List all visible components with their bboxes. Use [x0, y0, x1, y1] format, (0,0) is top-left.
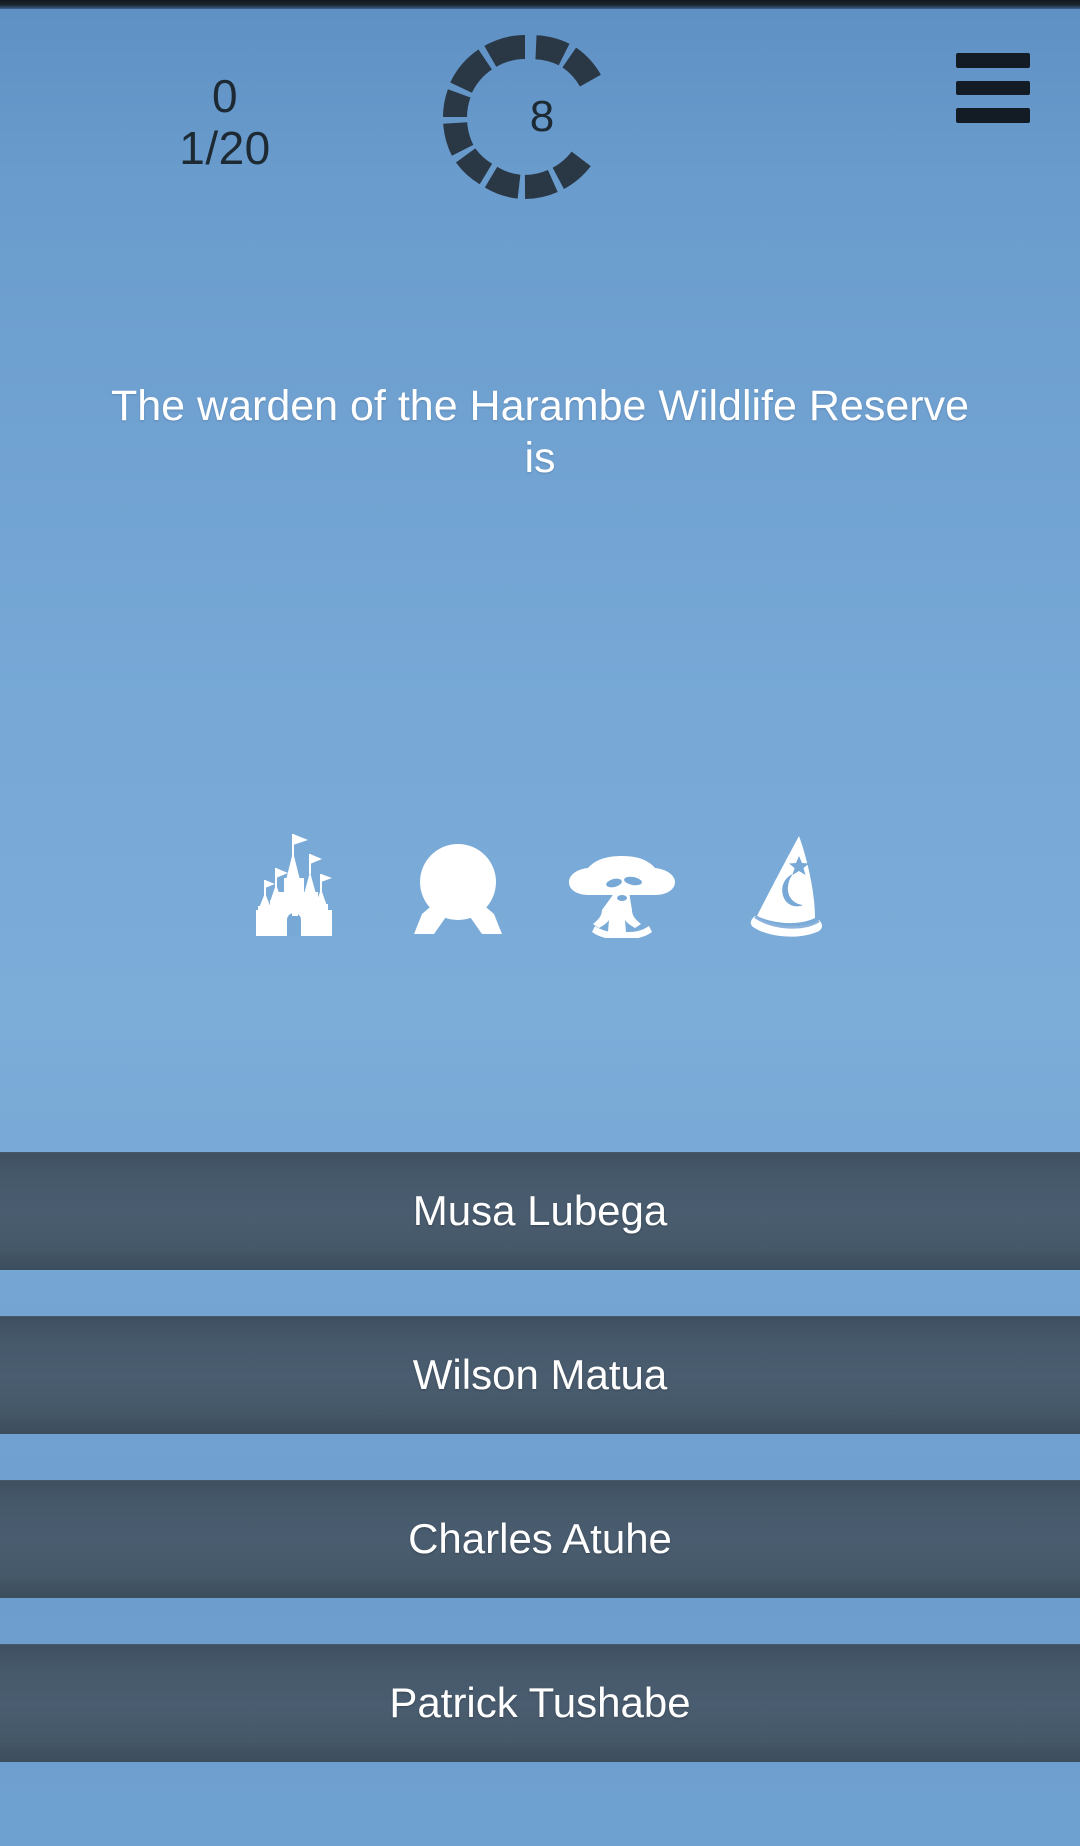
sorcerer-hat-icon — [743, 832, 829, 938]
menu-bar-1 — [956, 53, 1030, 68]
answer-option-1[interactable]: Musa Lubega — [0, 1152, 1080, 1270]
park-icon-magic-kingdom — [212, 818, 376, 938]
score-points: 0 — [110, 71, 340, 123]
park-icon-epcot — [376, 818, 540, 938]
answer-gap-3 — [0, 1598, 1080, 1644]
answer-option-4[interactable]: Patrick Tushabe — [0, 1644, 1080, 1762]
spaceship-earth-icon — [406, 838, 510, 938]
answer-gap-1 — [0, 1270, 1080, 1316]
answer-option-1-label: Musa Lubega — [413, 1187, 668, 1235]
countdown-timer: 8 — [430, 22, 620, 212]
answer-option-3-label: Charles Atuhe — [408, 1515, 672, 1563]
answer-option-2[interactable]: Wilson Matua — [0, 1316, 1080, 1434]
answer-list: Musa Lubega Wilson Matua Charles Atuhe P… — [0, 1152, 1080, 1762]
answer-gap-2 — [0, 1434, 1080, 1480]
header: 0 1/20 8 — [0, 9, 1080, 219]
menu-bar-2 — [956, 81, 1030, 96]
park-icon-row — [0, 818, 1080, 938]
park-icon-animal-kingdom — [540, 818, 704, 938]
hamburger-menu-icon[interactable] — [956, 53, 1032, 123]
status-bar — [0, 0, 1080, 9]
answer-option-4-label: Patrick Tushabe — [389, 1679, 690, 1727]
menu-bar-3 — [956, 108, 1030, 123]
tree-of-life-icon — [565, 852, 679, 938]
answer-option-3[interactable]: Charles Atuhe — [0, 1480, 1080, 1598]
question-text: The warden of the Harambe Wildlife Reser… — [90, 380, 990, 485]
question-progress: 1/20 — [110, 123, 340, 175]
timer-value: 8 — [430, 22, 620, 212]
castle-icon — [246, 832, 342, 938]
park-icon-hollywood-studios — [704, 818, 868, 938]
score-block: 0 1/20 — [110, 71, 340, 174]
answer-option-2-label: Wilson Matua — [413, 1351, 667, 1399]
